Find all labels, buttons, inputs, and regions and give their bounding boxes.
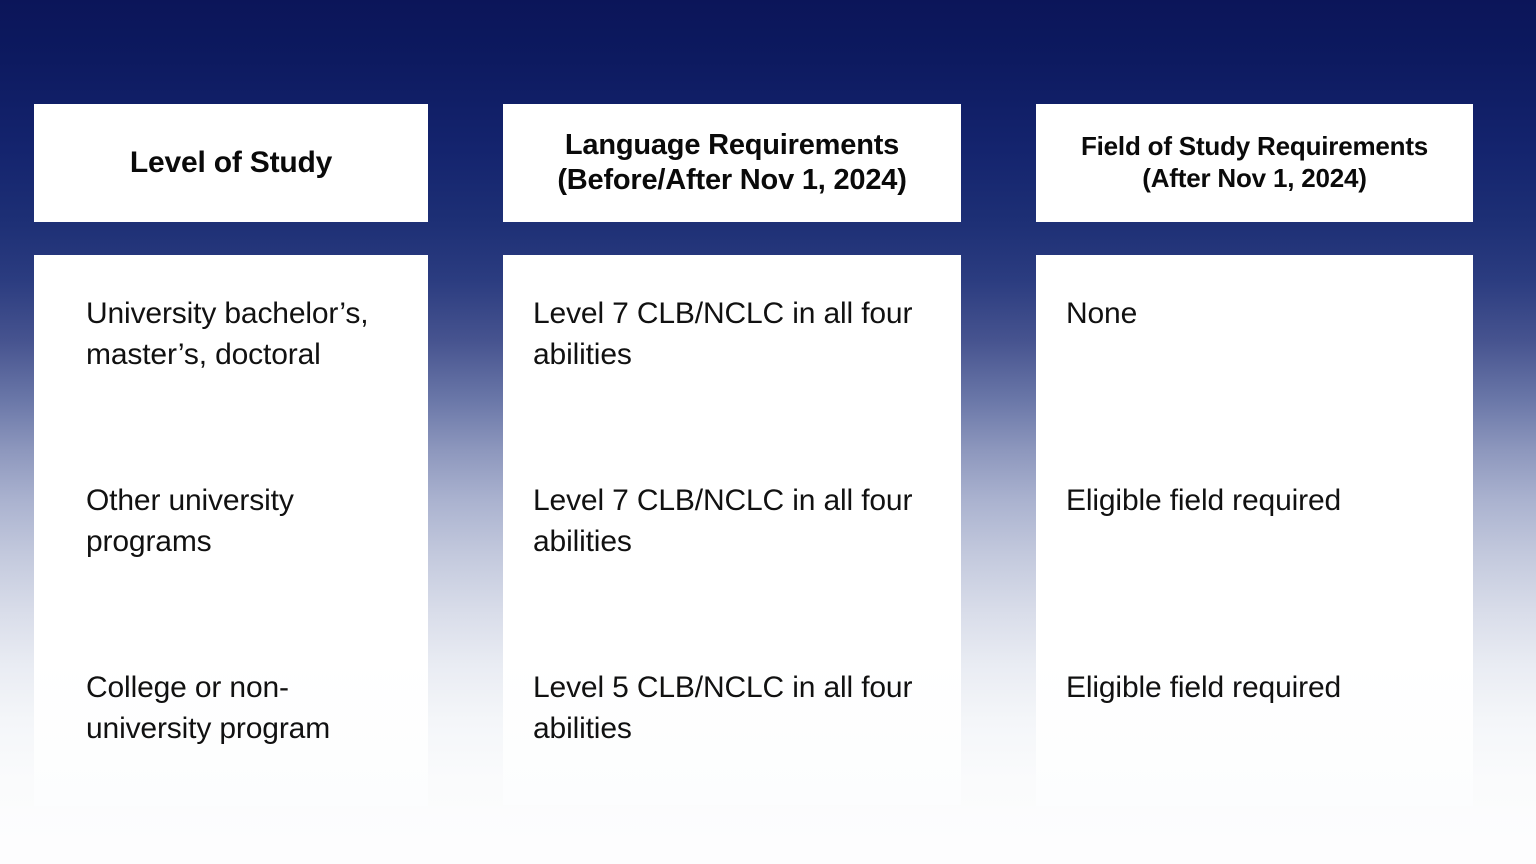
column-body-level-of-study: University bachelor’s, master’s, doctora… xyxy=(34,255,428,806)
column-header-field-of-study-requirements: Field of Study Requirements (After Nov 1… xyxy=(1036,104,1473,222)
column-header-line2: (After Nov 1, 2024) xyxy=(1081,163,1428,195)
table-cell: College or non-university program xyxy=(34,667,428,750)
table-cell: University bachelor’s, master’s, doctora… xyxy=(34,293,428,376)
table-cell: Other university programs xyxy=(34,480,428,563)
column-header-language-requirements: Language Requirements (Before/After Nov … xyxy=(503,104,961,222)
column-header-level-of-study: Level of Study xyxy=(34,104,428,222)
table-cell: None xyxy=(1036,293,1473,334)
table-body: University bachelor’s, master’s, doctora… xyxy=(0,255,1536,807)
column-header-line1: Language Requirements xyxy=(565,129,899,161)
column-header-line2: (Before/After Nov 1, 2024) xyxy=(557,163,906,198)
column-header-line1: Level of Study xyxy=(130,146,332,179)
column-body-field-of-study-requirements: None Eligible field required Eligible fi… xyxy=(1036,255,1473,806)
table-cell: Level 7 CLB/NCLC in all four abilities xyxy=(503,480,961,563)
table-cell: Eligible field required xyxy=(1036,480,1473,521)
table-cell: Level 7 CLB/NCLC in all four abilities xyxy=(503,293,961,376)
column-header-text: Field of Study Requirements (After Nov 1… xyxy=(1081,131,1428,194)
table-cell: Eligible field required xyxy=(1036,667,1473,708)
column-header-text: Level of Study xyxy=(130,145,332,182)
table-cell: Level 5 CLB/NCLC in all four abilities xyxy=(503,667,961,750)
slide-canvas: Level of Study Language Requirements (Be… xyxy=(0,0,1536,864)
table-header-row: Level of Study Language Requirements (Be… xyxy=(0,104,1536,222)
column-header-line1: Field of Study Requirements xyxy=(1081,131,1428,161)
column-header-text: Language Requirements (Before/After Nov … xyxy=(557,128,906,199)
column-body-language-requirements: Level 7 CLB/NCLC in all four abilities L… xyxy=(503,255,961,805)
